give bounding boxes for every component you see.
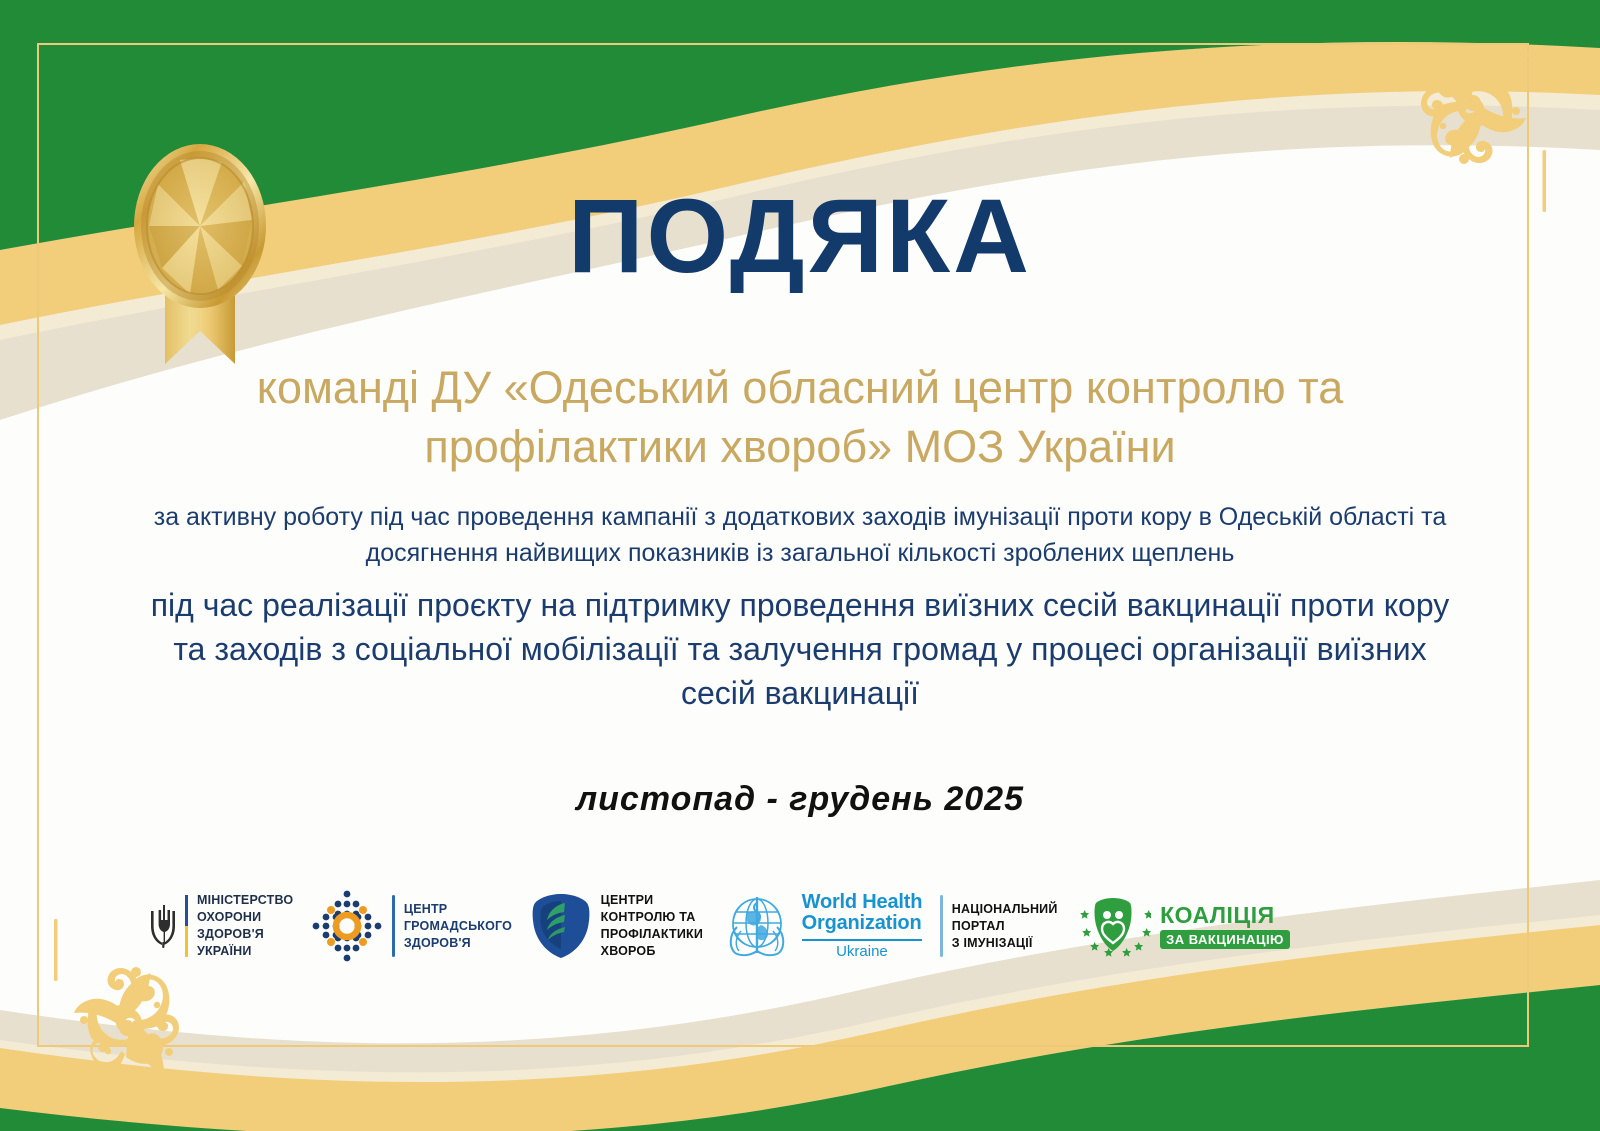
recipient-name: команді ДУ «Одеський обласний центр конт… xyxy=(130,358,1470,477)
stars-shield-icon xyxy=(1075,891,1151,961)
logo-public-health-text: ЦЕНТР ГРОМАДСЬКОГО ЗДОРОВ'Я xyxy=(404,901,512,952)
shield-icon xyxy=(530,891,592,961)
logo-line: КОНТРОЛЮ ТА xyxy=(601,909,703,926)
logo-line: ПОРТАЛ xyxy=(952,918,1058,935)
who-line-1: World Health xyxy=(802,892,923,913)
logo-line: ОХОРОНИ xyxy=(197,909,293,926)
logo-world-health-organization: World Health Organization Ukraine xyxy=(721,892,923,960)
flag-divider xyxy=(185,895,188,957)
certificate: ПОДЯКА команді ДУ «Одеський обласний цен… xyxy=(0,0,1600,1131)
logo-line: НАЦІОНАЛЬНИЙ xyxy=(952,901,1058,918)
logo-portal-text: НАЦІОНАЛЬНИЙ ПОРТАЛ З ІМУНІЗАЦІЇ xyxy=(952,901,1058,952)
logo-line: З ІМУНІЗАЦІЇ xyxy=(952,935,1058,952)
certificate-content: ПОДЯКА команді ДУ «Одеський обласний цен… xyxy=(0,0,1600,1131)
logo-who-text: World Health Organization Ukraine xyxy=(802,892,923,960)
logo-vaccination-coalition: КОАЛІЦІЯ ЗА ВАКЦИНАЦІЮ xyxy=(1075,891,1290,961)
trident-icon xyxy=(150,904,176,948)
dot-diamond-icon xyxy=(311,889,383,963)
project-description-text: під час реалізації проєкту на підтримку … xyxy=(140,583,1460,715)
award-reason-text: за активну роботу під час проведення кам… xyxy=(150,500,1450,571)
coalition-subtitle: ЗА ВАКЦИНАЦІЮ xyxy=(1160,930,1290,949)
award-date: листопад - грудень 2025 xyxy=(0,780,1600,819)
page-title: ПОДЯКА xyxy=(0,182,1600,292)
logo-national-immunization-portal: НАЦІОНАЛЬНИЙ ПОРТАЛ З ІМУНІЗАЦІЇ xyxy=(940,895,1058,957)
logo-line: ЗДОРОВ'Я xyxy=(197,926,293,943)
logo-line: МІНІСТЕРСТВО xyxy=(197,892,293,909)
logo-disease-control-centers: ЦЕНТРИ КОНТРОЛЮ ТА ПРОФІЛАКТИКИ ХВОРОБ xyxy=(530,891,703,961)
logo-ministry-of-health: МІНІСТЕРСТВО ОХОРОНИ ЗДОРОВ'Я УКРАЇНИ xyxy=(150,892,293,960)
logo-coalition-text: КОАЛІЦІЯ ЗА ВАКЦИНАЦІЮ xyxy=(1160,904,1290,949)
who-line-2: Organization xyxy=(802,913,923,934)
partner-logos-row: МІНІСТЕРСТВО ОХОРОНИ ЗДОРОВ'Я УКРАЇНИ xyxy=(150,876,1290,976)
who-emblem-icon xyxy=(721,893,793,959)
logo-divider xyxy=(392,895,395,957)
who-rule xyxy=(802,939,923,941)
logo-line: УКРАЇНИ xyxy=(197,943,293,960)
logo-line: ГРОМАДСЬКОГО xyxy=(404,918,512,935)
logo-public-health-center: ЦЕНТР ГРОМАДСЬКОГО ЗДОРОВ'Я xyxy=(311,889,512,963)
logo-line: ПРОФІЛАКТИКИ xyxy=(601,926,703,943)
who-country: Ukraine xyxy=(802,943,923,960)
logo-ministry-text: МІНІСТЕРСТВО ОХОРОНИ ЗДОРОВ'Я УКРАЇНИ xyxy=(197,892,293,960)
logo-line: ЦЕНТР xyxy=(404,901,512,918)
logo-line: ЦЕНТРИ xyxy=(601,892,703,909)
coalition-title: КОАЛІЦІЯ xyxy=(1160,904,1290,927)
logo-line: ЗДОРОВ'Я xyxy=(404,935,512,952)
logo-divider xyxy=(940,895,943,957)
logo-cdc-text: ЦЕНТРИ КОНТРОЛЮ ТА ПРОФІЛАКТИКИ ХВОРОБ xyxy=(601,892,703,960)
logo-line: ХВОРОБ xyxy=(601,943,703,960)
